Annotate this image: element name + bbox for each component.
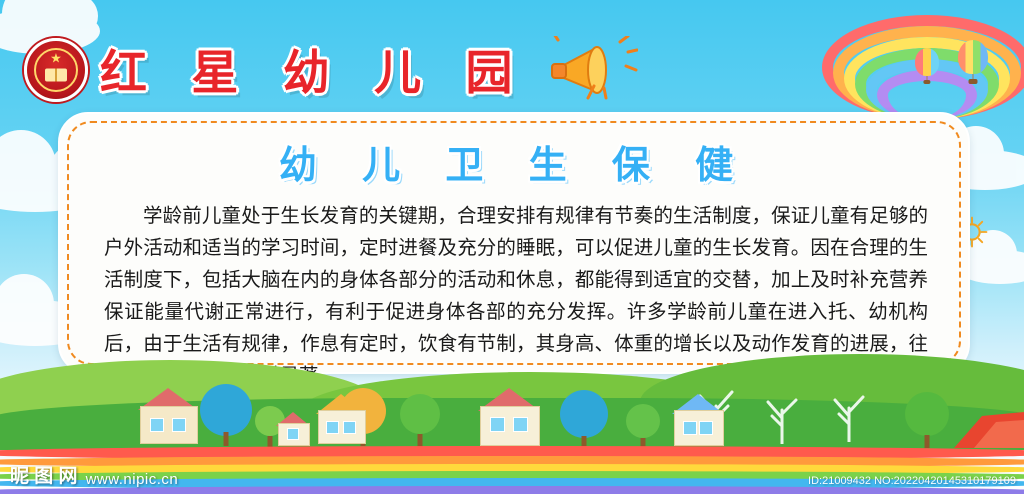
bare-tree-icon	[826, 384, 872, 442]
house-icon	[674, 394, 722, 446]
nipic-url: www.nipic.cn	[86, 471, 179, 488]
page-title: 幼 儿 卫 生 保 健	[60, 134, 968, 189]
watermark: 昵 图 网 www.nipic.cn	[10, 461, 178, 488]
image-id-text: ID:21009432 NO:20220420145310179109	[808, 475, 1016, 487]
content-panel: 幼 儿 卫 生 保 健 学龄前儿童处于生长发育的关键期，合理安排有规律有节奏的生…	[58, 112, 970, 374]
house-icon	[954, 408, 1024, 448]
tree-icon	[400, 394, 440, 448]
tree-icon	[905, 392, 949, 448]
school-emblem-icon: ★	[24, 38, 88, 102]
house-icon	[480, 388, 538, 446]
hot-air-balloon-icon	[915, 48, 939, 84]
hot-air-balloon-icon	[958, 40, 988, 84]
poster-canvas: ★ 红 星 幼 儿 园 幼 儿 卫 生 保 健 学龄前儿童处于生长发育的关键期，…	[0, 0, 1024, 494]
house-icon	[278, 412, 308, 446]
tree-icon	[626, 404, 660, 450]
bare-tree-icon	[760, 388, 804, 444]
school-name-title: 红 星 幼 儿 园	[100, 34, 526, 103]
tree-icon	[560, 390, 608, 450]
tree-icon	[200, 384, 252, 446]
house-icon	[140, 388, 196, 444]
megaphone-icon	[548, 36, 638, 106]
nipic-logo: 昵 图 网	[10, 461, 78, 488]
house-icon	[318, 394, 364, 444]
footer-watermark-bar: 昵 图 网 www.nipic.cn ID:21009432 NO:202204…	[0, 458, 1024, 494]
